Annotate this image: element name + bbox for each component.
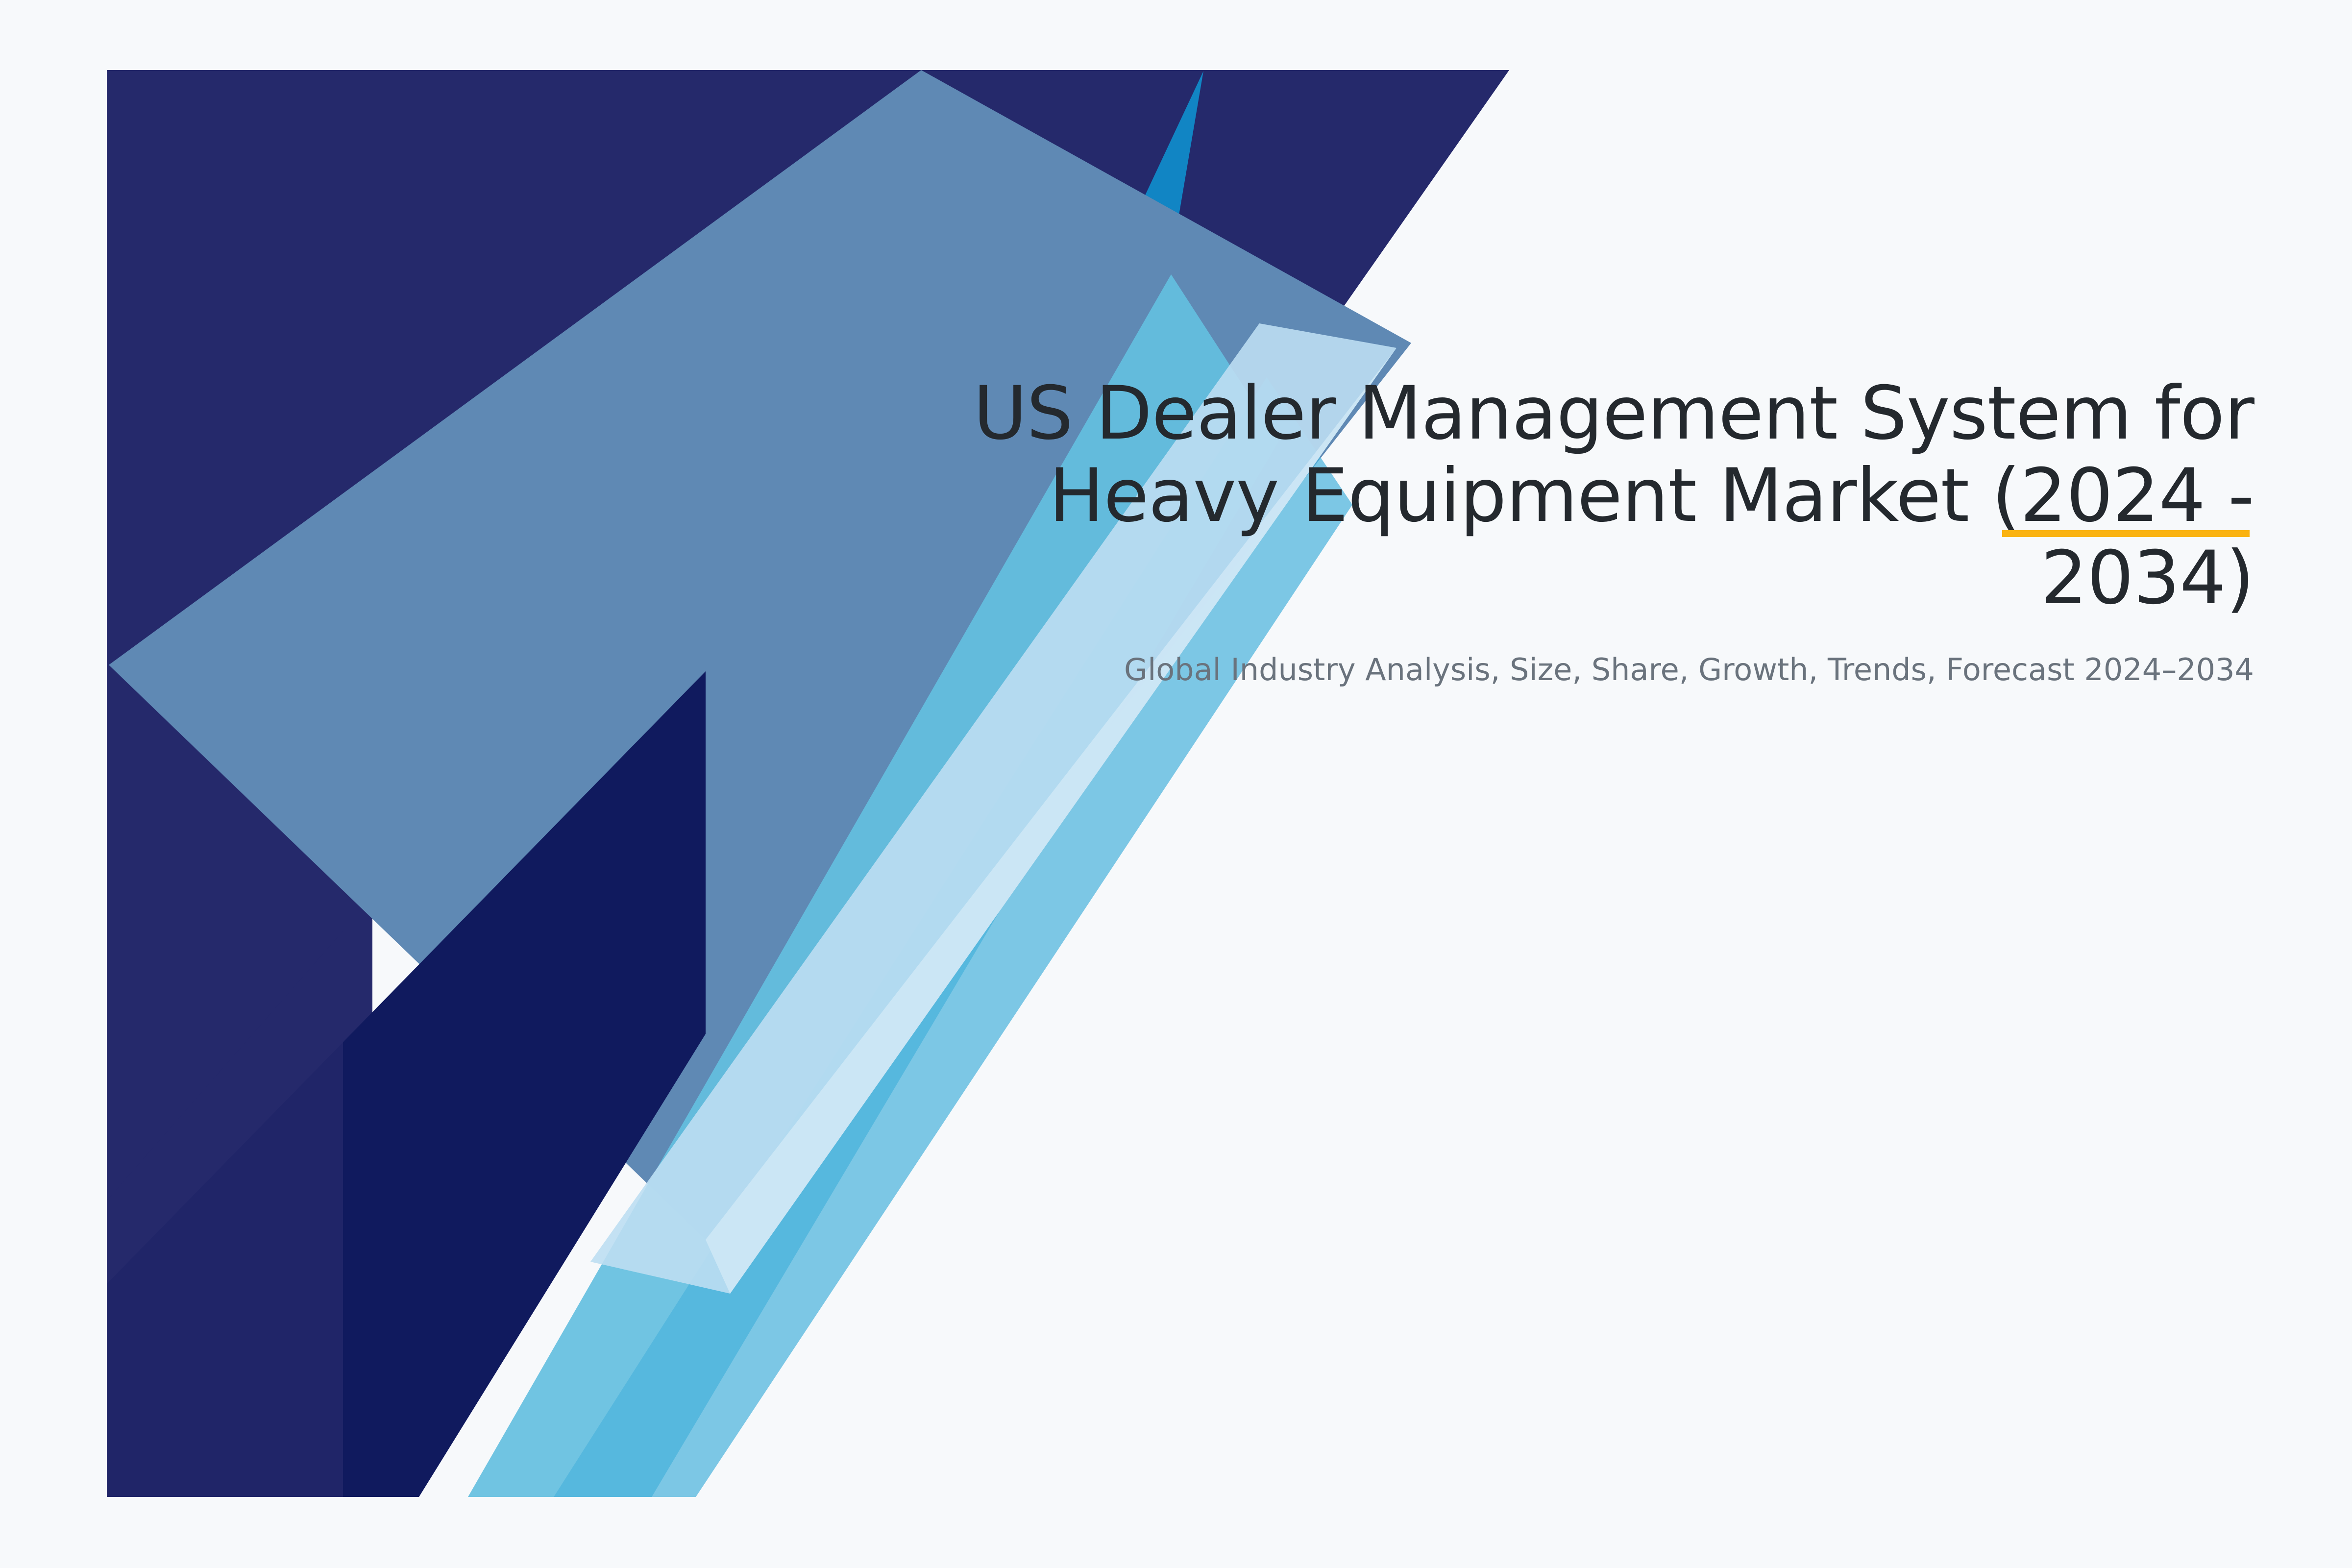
- abstract-geometric-artwork: [0, 0, 2352, 1568]
- page-subtitle: Global Industry Analysis, Size, Share, G…: [833, 650, 2254, 690]
- cover-page: US Dealer Management System for Heavy Eq…: [0, 0, 2352, 1568]
- page-title: US Dealer Management System for Heavy Eq…: [833, 372, 2254, 619]
- title-accent-underline: [2002, 530, 2250, 537]
